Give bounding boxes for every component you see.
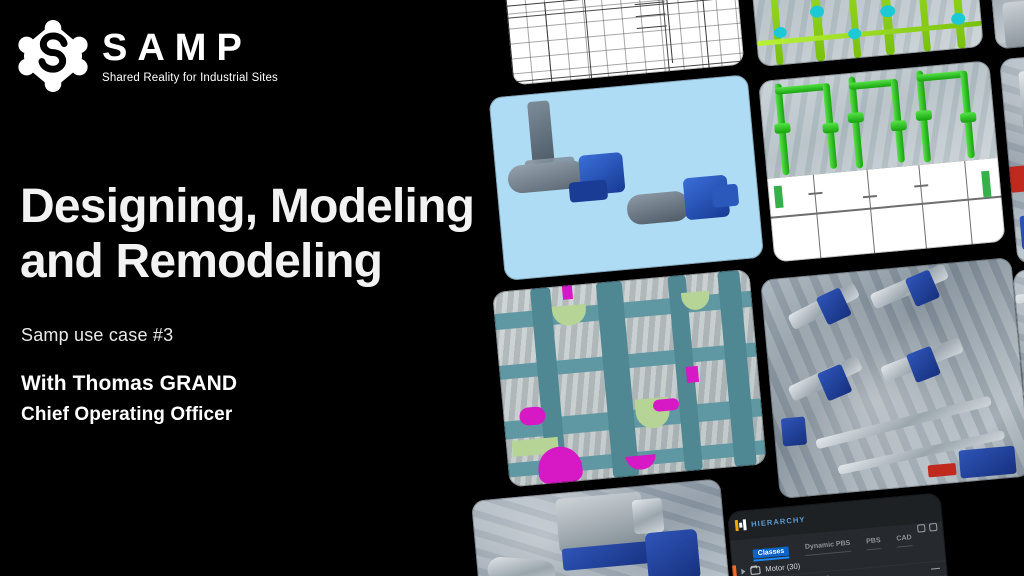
- partial-visibility-icon[interactable]: [931, 568, 940, 570]
- collage-tile-colored-cad-plant-overlay[interactable]: [744, 0, 984, 67]
- green-pipes-artwork: [758, 60, 1006, 262]
- tab-cad[interactable]: CAD: [896, 534, 912, 545]
- collage-tile-pump-3d-render-sky[interactable]: [488, 74, 764, 281]
- photo-artwork: [471, 478, 737, 576]
- page-title-line-1: Designing, Modeling: [20, 180, 490, 235]
- collage-tile-cad-isometric-drawing[interactable]: CASE 2: [501, 0, 744, 85]
- photo-artwork: [978, 0, 1024, 50]
- page-title-line-2: and Remodeling: [20, 235, 490, 290]
- brand-logo-lockup: SAMP Shared Reality for Industrial Sites: [18, 20, 278, 92]
- hierarchy-panel-title: HIERARCHY: [751, 515, 806, 529]
- photo-artwork: [760, 257, 1024, 499]
- plant-overlay-artwork: [744, 0, 984, 67]
- brand-wordmark: SAMP: [102, 29, 278, 67]
- tab-classes[interactable]: Classes: [753, 546, 790, 558]
- brand-tagline: Shared Reality for Industrial Sites: [102, 69, 278, 85]
- collage-tile-green-pipes-and-pid[interactable]: [758, 60, 1006, 262]
- tree-row-label: Motor (30): [765, 562, 801, 574]
- hierarchy-panel: HIERARCHY Classes Dynamic PBS PBS: [727, 492, 954, 576]
- speaker-block: With Thomas GRAND Chief Operating Office…: [21, 370, 237, 429]
- speaker-name: With Thomas GRAND: [21, 370, 237, 398]
- collage-tile-photo-blue-equipment-top[interactable]: [978, 0, 1024, 50]
- tab-dynamic-pbs[interactable]: Dynamic PBS: [805, 540, 851, 554]
- page-title: Designing, Modeling and Remodeling: [20, 180, 490, 289]
- title-panel: SAMP Shared Reality for Industrial Sites…: [0, 0, 500, 576]
- collage-tile-teal-magenta-3d-model[interactable]: [492, 269, 767, 488]
- speaker-role: Chief Operating Officer: [21, 402, 237, 429]
- samp-flower-s-logo-icon: [18, 20, 88, 92]
- collage-tile-hierarchy-ui-panel[interactable]: HIERARCHY Classes Dynamic PBS PBS: [727, 492, 954, 576]
- chevron-right-icon[interactable]: [741, 568, 746, 574]
- folder-icon: [750, 566, 761, 575]
- tab-pbs[interactable]: PBS: [866, 537, 881, 548]
- presentation-slide: SAMP Shared Reality for Industrial Sites…: [0, 0, 1024, 576]
- collage-tile-photo-pump-array-overhead[interactable]: [760, 257, 1024, 499]
- model-artwork: [492, 269, 767, 488]
- app-logo-icon: [735, 519, 747, 531]
- sky-render-artwork: [488, 74, 764, 281]
- collage-tile-photo-pump-closeup[interactable]: [471, 478, 737, 576]
- cad-drawing-artwork: CASE 2: [501, 0, 744, 85]
- image-collage: CASE 2: [429, 0, 1024, 576]
- use-case-eyebrow: Samp use case #3: [21, 325, 173, 346]
